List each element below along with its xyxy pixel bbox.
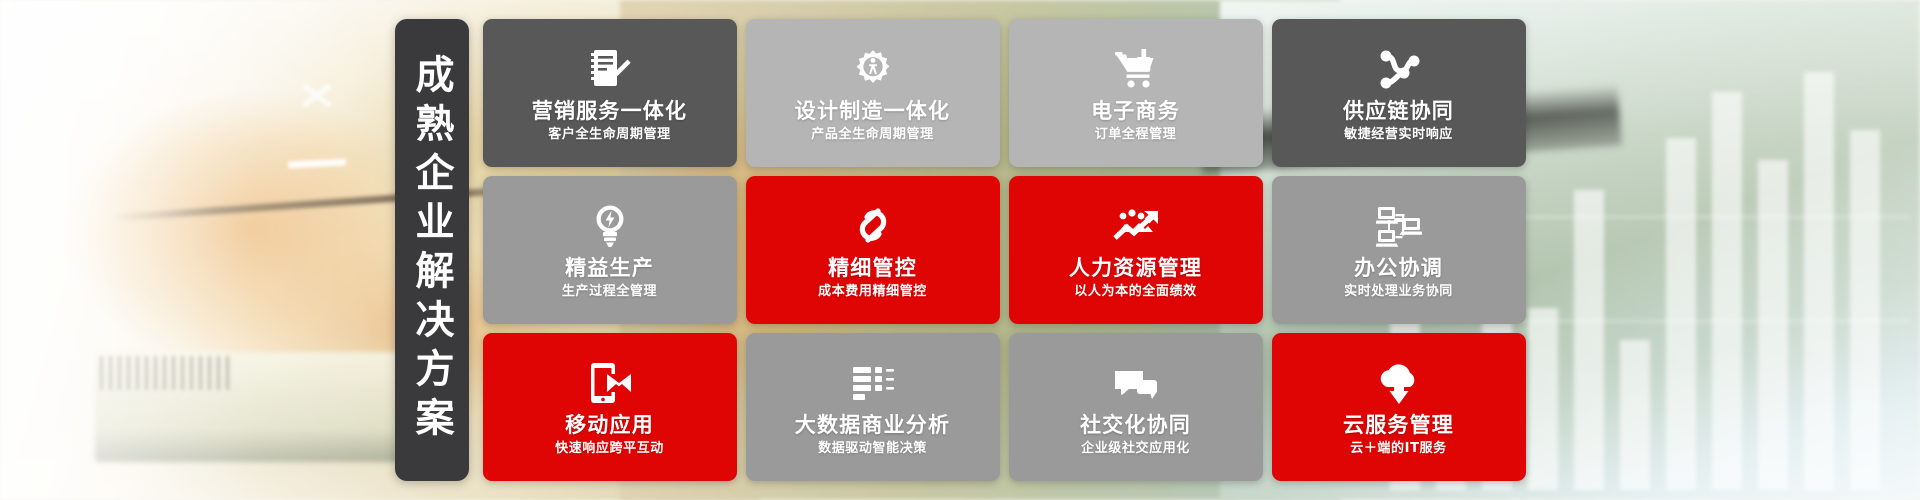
card-subtitle: 成本费用精细管控 bbox=[818, 285, 927, 299]
chain-link-icon bbox=[855, 202, 891, 248]
card-subtitle: 产品全生命周期管理 bbox=[811, 128, 933, 142]
card-title: 人力资源管理 bbox=[1069, 257, 1202, 279]
solution-card[interactable]: 社交化协同 企业级社交应用化 bbox=[1009, 333, 1263, 481]
cloud-download-icon bbox=[1376, 359, 1422, 405]
solution-card[interactable]: 移动应用 快速响应跨平互动 bbox=[483, 333, 737, 481]
solution-card[interactable]: 云服务管理 云＋端的IT服务 bbox=[1272, 333, 1526, 481]
card-title: 办公协调 bbox=[1354, 257, 1443, 279]
solution-card[interactable]: 人力资源管理 以人为本的全面绩效 bbox=[1009, 176, 1263, 324]
solution-banner: 成熟企业解决方案 营销服务一体化 bbox=[0, 0, 1920, 500]
card-title: 移动应用 bbox=[565, 414, 654, 436]
shopping-cart-download-icon bbox=[1114, 45, 1158, 91]
card-subtitle: 敏捷经营实时响应 bbox=[1344, 128, 1453, 142]
card-subtitle: 生产过程全管理 bbox=[562, 285, 657, 299]
networked-computers-icon bbox=[1376, 202, 1422, 248]
banner-content: 成熟企业解决方案 营销服务一体化 bbox=[0, 0, 1920, 500]
card-title: 供应链协同 bbox=[1343, 100, 1454, 122]
card-title: 精益生产 bbox=[565, 257, 654, 279]
solution-card[interactable]: 精细管控 成本费用精细管控 bbox=[746, 176, 1000, 324]
mobile-message-icon bbox=[588, 359, 632, 405]
card-subtitle: 实时处理业务协同 bbox=[1344, 285, 1453, 299]
solution-card[interactable]: 办公协调 实时处理业务协同 bbox=[1272, 176, 1526, 324]
gear-person-icon bbox=[852, 45, 894, 91]
clipboard-pencil-icon bbox=[589, 45, 631, 91]
card-title: 大数据商业分析 bbox=[795, 414, 950, 436]
card-subtitle: 数据驱动智能决策 bbox=[818, 442, 927, 456]
card-title: 云服务管理 bbox=[1343, 414, 1454, 436]
card-title: 营销服务一体化 bbox=[532, 100, 687, 122]
card-subtitle: 企业级社交应用化 bbox=[1081, 442, 1190, 456]
solution-card[interactable]: 营销服务一体化 客户全生命周期管理 bbox=[483, 19, 737, 167]
card-title: 设计制造一体化 bbox=[795, 100, 950, 122]
solution-card[interactable]: 供应链协同 敏捷经营实时响应 bbox=[1272, 19, 1526, 167]
card-subtitle: 客户全生命周期管理 bbox=[548, 128, 670, 142]
page-title: 成熟企业解决方案 bbox=[412, 54, 451, 446]
solution-card[interactable]: 大数据商业分析 数据驱动智能决策 bbox=[746, 333, 1000, 481]
solution-card[interactable]: 精益生产 生产过程全管理 bbox=[483, 176, 737, 324]
card-subtitle: 快速响应跨平互动 bbox=[555, 442, 664, 456]
lightbulb-bolt-icon bbox=[591, 202, 629, 248]
solution-card[interactable]: 设计制造一体化 产品全生命周期管理 bbox=[746, 19, 1000, 167]
card-title: 电子商务 bbox=[1091, 100, 1180, 122]
solution-card[interactable]: 电子商务 订单全程管理 bbox=[1009, 19, 1263, 167]
card-subtitle: 云＋端的IT服务 bbox=[1350, 442, 1447, 456]
data-server-bars-icon bbox=[851, 359, 895, 405]
card-subtitle: 以人为本的全面绩效 bbox=[1074, 285, 1196, 299]
card-title: 精细管控 bbox=[828, 257, 917, 279]
chat-bubbles-icon bbox=[1113, 359, 1159, 405]
solution-card-grid: 营销服务一体化 客户全生命周期管理 设计制造一体化 产品全生命周期管理 bbox=[483, 19, 1526, 481]
vertical-title-panel: 成熟企业解决方案 bbox=[395, 19, 469, 481]
network-nodes-icon bbox=[1377, 45, 1421, 91]
people-growth-arrow-icon bbox=[1112, 202, 1160, 248]
card-title: 社交化协同 bbox=[1080, 414, 1191, 436]
card-subtitle: 订单全程管理 bbox=[1095, 128, 1177, 142]
